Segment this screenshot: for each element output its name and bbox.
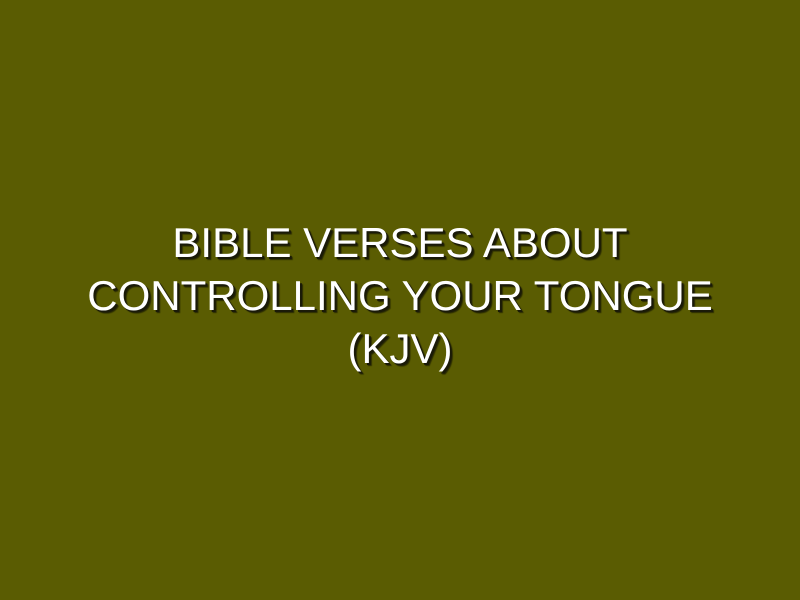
- title-block: BIBLE VERSES ABOUT CONTROLLING YOUR TONG…: [30, 216, 770, 375]
- title-banner: BIBLE VERSES ABOUT CONTROLLING YOUR TONG…: [0, 0, 800, 600]
- page-title: BIBLE VERSES ABOUT CONTROLLING YOUR TONG…: [40, 216, 760, 375]
